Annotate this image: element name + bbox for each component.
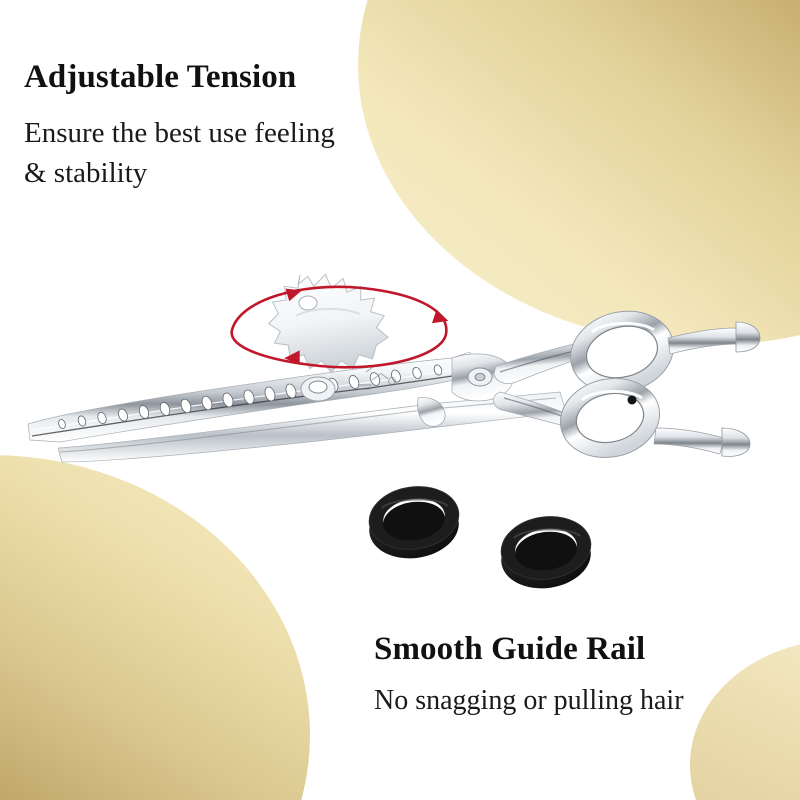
lower-finger-ring: [553, 369, 667, 466]
silicone-finger-ring-insert-left: [365, 481, 463, 564]
lower-finger-tang-rest: [654, 428, 750, 456]
feature-description-bottom: No snagging or pulling hair: [374, 682, 794, 721]
feature-description-top-line2: & stability: [24, 157, 147, 189]
feature-block-adjustable-tension: Adjustable Tension Ensure the best use f…: [24, 58, 454, 193]
feature-graphic-canvas: Adjustable Tension Ensure the best use f…: [0, 0, 800, 800]
page-title: Adjustable Tension: [24, 58, 454, 96]
tension-adjustment-screw: [301, 377, 335, 401]
feature-description-top: Ensure the best use feeling & stability: [24, 113, 454, 193]
feature-block-smooth-guide-rail: Smooth Guide Rail No snagging or pulling…: [374, 630, 794, 721]
feature-description-top-line1: Ensure the best use feeling: [24, 117, 335, 149]
silicone-finger-ring-insert-right: [497, 511, 595, 594]
feature-description-bottom-line1: No snagging or pulling hair: [374, 685, 684, 716]
section-title: Smooth Guide Rail: [374, 630, 794, 668]
upper-finger-tang-rest: [668, 322, 760, 354]
